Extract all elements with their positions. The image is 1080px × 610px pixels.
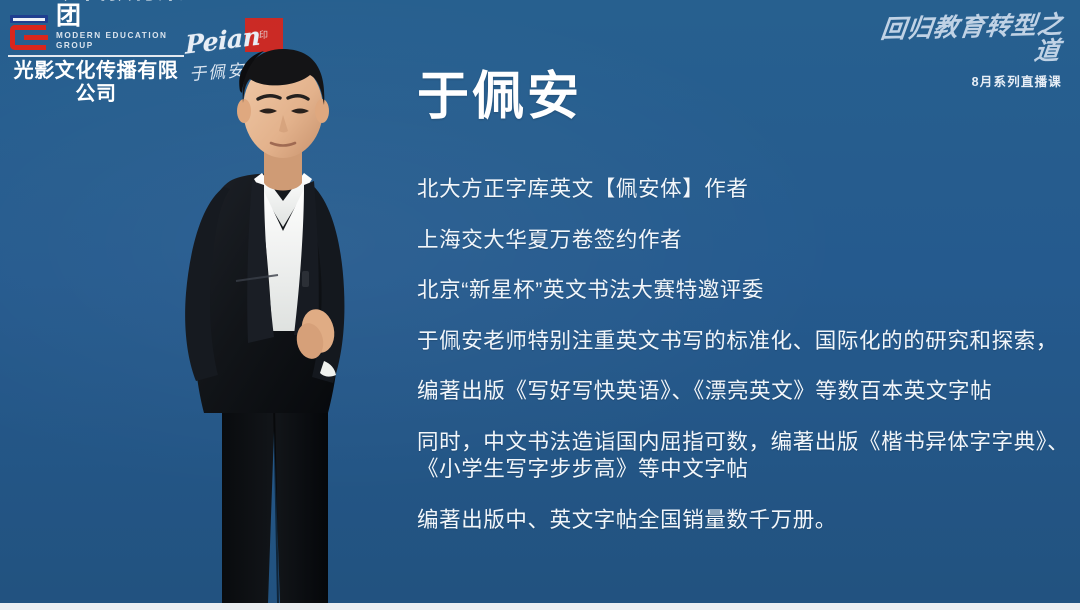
bio-line: 编著出版《写好写快英语》、《漂亮英文》等数百本英文字帖 — [417, 378, 1047, 406]
bio-line: 北京“新星杯”英文书法大赛特邀评委 — [417, 277, 1047, 305]
series-headline: 回归教育转型之道 — [858, 12, 1065, 70]
speaker-portrait-photo — [152, 31, 414, 603]
presentation-slide: 现代教育集团 MODERN EDUCATION GROUP 光影文化传播有限公司… — [0, 0, 1080, 610]
bio-line: 上海交大华夏万卷签约作者 — [417, 227, 1047, 255]
bio-line: 北大方正字库英文【佩安体】作者 — [417, 176, 1047, 204]
series-subline: 8月系列直播课 — [862, 71, 1062, 90]
modern-education-group-logo-icon — [8, 12, 50, 52]
logo-company-name-cn: 现代教育集团 — [56, 0, 184, 30]
bio-line: 《小学生写字步步高》等中文字帖 — [417, 456, 1047, 484]
bio-line: 同时，中文书法造诣国内屈指可数，编著出版《楷书异体字字典》、 — [417, 429, 1047, 457]
bottom-strip — [0, 603, 1080, 610]
logo-blue-bar-shape — [10, 15, 48, 23]
bio-line: 编著出版中、英文字帖全国销量数千万册。 — [417, 507, 1047, 535]
logo-red-c-shape — [10, 25, 46, 50]
speaker-name-title: 于佩安 — [417, 68, 582, 128]
bio-line: 于佩安老师特别注重英文书写的标准化、国际化的的研究和探索， — [417, 328, 1047, 356]
speaker-bio-list: 北大方正字库英文【佩安体】作者 上海交大华夏万卷签约作者 北京“新星杯”英文书法… — [417, 176, 1047, 557]
series-branding: 回归教育转型之道 8月系列直播课 — [862, 12, 1062, 90]
